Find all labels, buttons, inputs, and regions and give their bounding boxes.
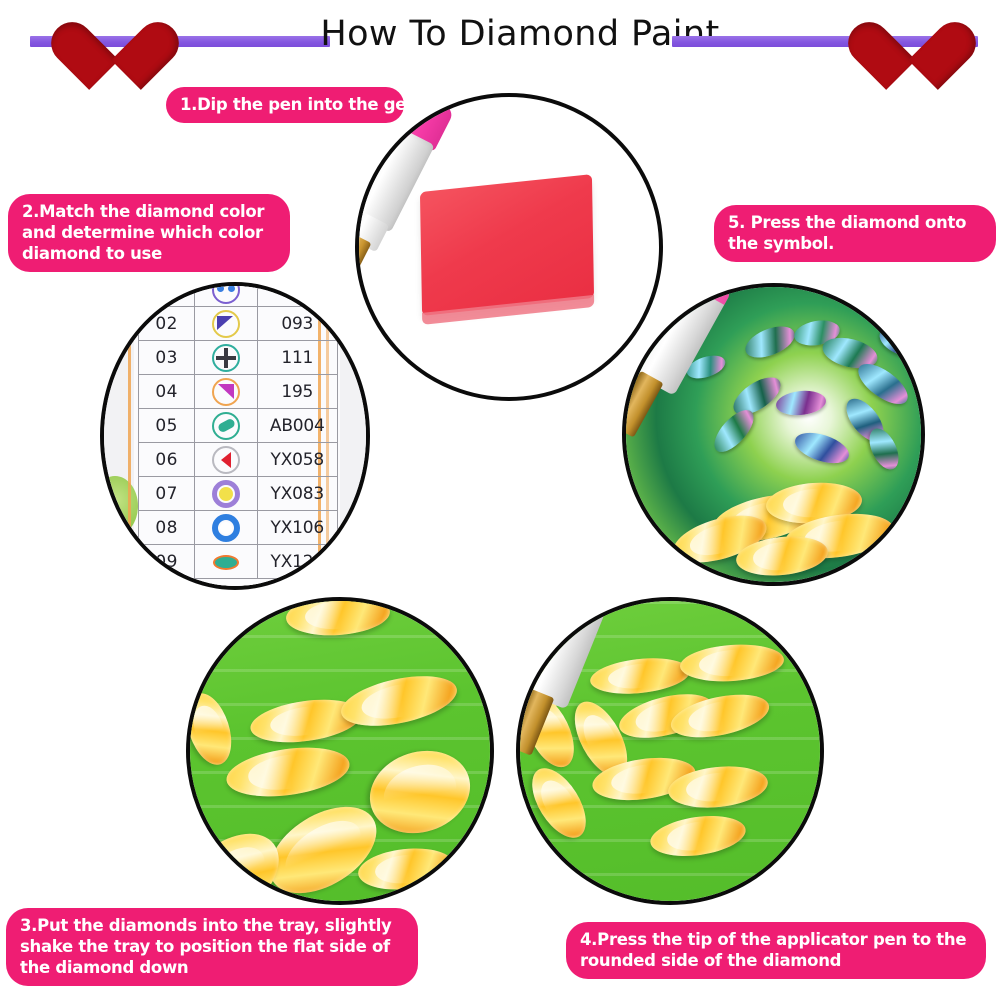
triangle-down-icon (212, 378, 240, 406)
chart-cell-number: 04 (139, 375, 195, 409)
chart-cell-code: YX083 (257, 477, 337, 511)
chart-cell-number: 02 (139, 307, 195, 341)
table-row: 06YX058 (139, 443, 338, 477)
step-1-label: 1.Dip the pen into the gel (166, 87, 404, 123)
chart-cell-code: YX058 (257, 443, 337, 477)
gel-pad (420, 174, 594, 316)
chart-cell-number: 06 (139, 443, 195, 477)
chevron-left-icon (212, 446, 240, 474)
step-5-label: 5. Press the diamond onto the symbol. (714, 205, 996, 262)
plus-icon (212, 344, 240, 372)
chart-cell-code: 195 (257, 375, 337, 409)
table-row: 02093 (139, 307, 338, 341)
chart-cell-code: 093 (257, 307, 337, 341)
chart-edge-stripe (128, 282, 131, 590)
chart-cell-number: 08 (139, 511, 195, 545)
triangle-icon (212, 310, 240, 338)
step-2-label: 2.Match the diamond color and determine … (8, 194, 290, 272)
chart-cell-code: 028 (257, 282, 337, 307)
table-row: 09YX125 (139, 545, 338, 579)
chart-cell-number: 07 (139, 477, 195, 511)
table-row: 07YX083 (139, 477, 338, 511)
heart-icon (880, 9, 954, 79)
table-row: 03111 (139, 341, 338, 375)
chart-cell-number: 03 (139, 341, 195, 375)
chart-cell-symbol (195, 511, 257, 545)
two-dots-icon (212, 282, 240, 304)
chart-cell-symbol (195, 443, 257, 477)
chart-cell-number (139, 282, 195, 307)
marquise-icon (212, 548, 240, 576)
chart-cell-code: 111 (257, 341, 337, 375)
chart-cell-number: 05 (139, 409, 195, 443)
color-code-table: 02802093031110419505AB00406YX05807YX0830… (138, 282, 338, 579)
chart-cell-code: YX106 (257, 511, 337, 545)
step-4-photo (516, 597, 824, 905)
step-2-photo: 02802093031110419505AB00406YX05807YX0830… (100, 282, 370, 590)
chart-cell-code: AB004 (257, 409, 337, 443)
step-3-photo (186, 597, 494, 905)
step-3-label: 3.Put the diamonds into the tray, slight… (6, 908, 418, 986)
chart-cell-symbol (195, 375, 257, 409)
chart-cell-symbol (195, 307, 257, 341)
dot-in-ring-icon (212, 480, 240, 508)
pen-tip (622, 371, 664, 438)
chart-cell-symbol (195, 282, 257, 307)
canvas-teal-gem (100, 534, 130, 560)
table-row: 028 (139, 282, 338, 307)
step-5-photo (622, 283, 925, 586)
chart-cell-symbol (195, 545, 257, 579)
capsule-icon (212, 412, 240, 440)
chart-cell-symbol (195, 341, 257, 375)
chart-cell-symbol (195, 477, 257, 511)
page-title: How To Diamond Paint (300, 14, 740, 54)
ring-icon (212, 514, 240, 542)
step-4-label: 4.Press the tip of the applicator pen to… (566, 922, 986, 979)
table-row: 04195 (139, 375, 338, 409)
table-row: 05AB004 (139, 409, 338, 443)
infographic-canvas: How To Diamond Paint 1.Dip the pen into … (0, 0, 1001, 1001)
table-row: 08YX106 (139, 511, 338, 545)
heart-icon (83, 9, 157, 79)
step-1-photo (355, 93, 663, 401)
pen-tip (516, 688, 554, 755)
chart-cell-number: 09 (139, 545, 195, 579)
chart-cell-symbol (195, 409, 257, 443)
chart-cell-code: YX125 (257, 545, 337, 579)
